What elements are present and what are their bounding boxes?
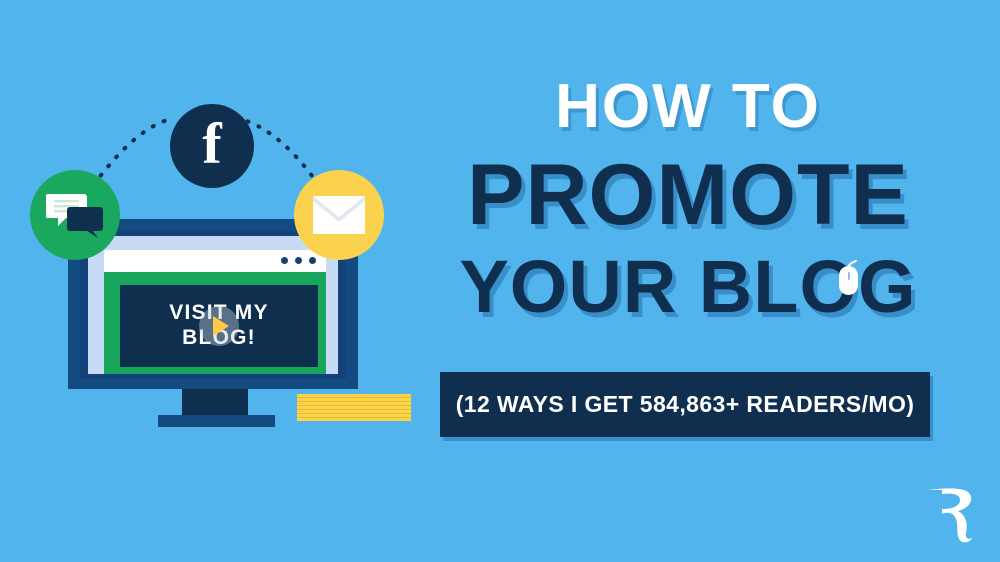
email-badge[interactable] [294, 170, 384, 260]
browser-dot [295, 257, 302, 264]
blog-promotion-illustration: VISIT MY BLOG! f [0, 0, 440, 562]
browser-dot [309, 257, 316, 264]
headline-line-your-blog-wrap: YOUR BLOG [438, 250, 938, 324]
headline-line-promote: PROMOTE [438, 152, 938, 238]
monitor-foot [158, 415, 275, 427]
browser-dot [281, 257, 288, 264]
chat-bubbles-icon [46, 190, 104, 240]
envelope-icon [313, 196, 365, 234]
headline-line-your-blog: YOUR BLOG [438, 250, 938, 324]
screen-message: VISIT MY BLOG! [120, 285, 318, 367]
lined-notepad-icon [297, 394, 411, 421]
ryrob-r-logo [922, 486, 978, 544]
computer-mouse-icon [837, 260, 861, 296]
headline-block: HOW TO PROMOTE YOUR BLOG [438, 76, 938, 324]
facebook-f-icon: f [202, 115, 221, 173]
poster-canvas: VISIT MY BLOG! f [0, 0, 1000, 562]
headline-line-how-to: HOW TO [438, 76, 938, 138]
subtitle-text: (12 WAYS I GET 584,863+ READERS/MO) [456, 391, 915, 418]
play-triangle-icon [213, 316, 229, 336]
comments-badge[interactable] [30, 170, 120, 260]
facebook-badge[interactable]: f [170, 104, 254, 188]
play-button[interactable] [199, 306, 239, 346]
browser-window-dots [281, 257, 316, 264]
subtitle-banner: (12 WAYS I GET 584,863+ READERS/MO) [440, 372, 930, 437]
browser-title-bar [104, 250, 326, 272]
